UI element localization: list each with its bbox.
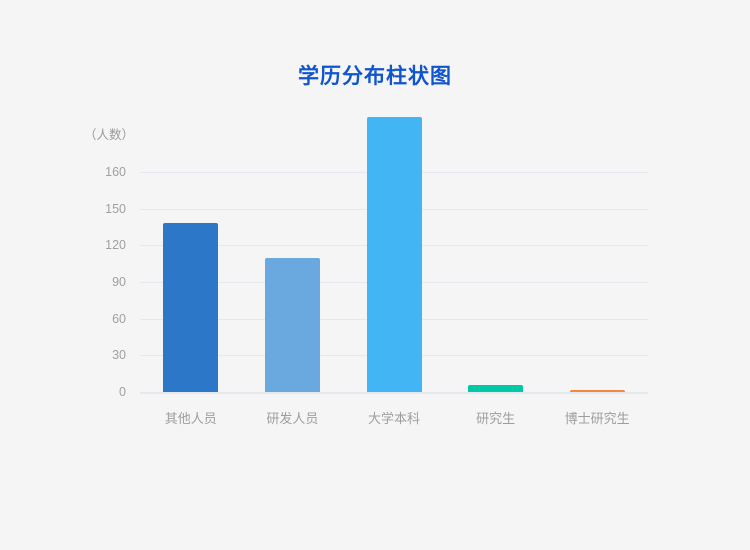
x-axis-tick-label: 研究生 <box>441 408 551 427</box>
x-axis: 其他人员研发人员大学本科研究生博士研究生 <box>0 0 750 550</box>
x-axis-tick-label: 大学本科 <box>339 408 449 427</box>
x-axis-tick-label: 博士研究生 <box>542 408 652 427</box>
x-axis-tick-label: 研发人员 <box>237 408 347 427</box>
x-axis-tick-label: 其他人员 <box>136 408 246 427</box>
bar-chart: 学历分布柱状图 （人数） 1601501209060300 其他人员研发人员大学… <box>0 0 750 550</box>
